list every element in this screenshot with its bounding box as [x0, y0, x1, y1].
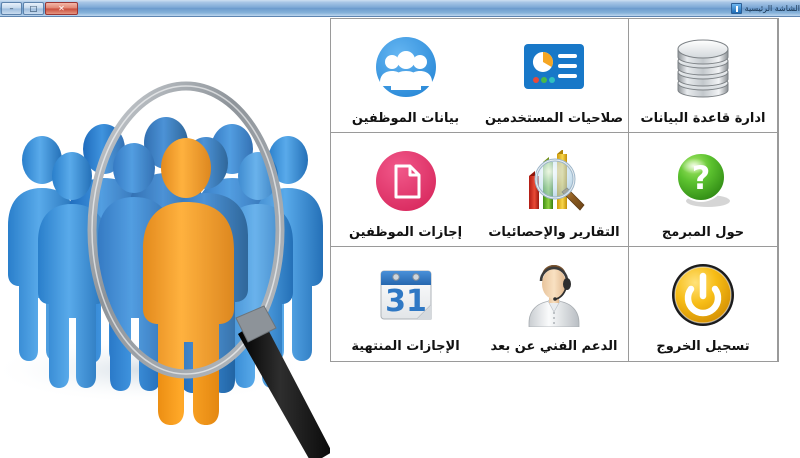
menu-label-employee-data: بيانات الموظفين — [352, 111, 459, 126]
window-controls: – □ ✕ — [0, 1, 80, 16]
menu-item-reports-statistics[interactable]: التقارير والإحصائيات — [480, 133, 629, 247]
menu-label-logout: تسجيل الخروج — [656, 339, 749, 354]
power-button-icon — [666, 260, 740, 330]
main-window: الشاشة الرئيسية – □ ✕ — [0, 0, 800, 458]
headset-support-icon — [517, 260, 591, 330]
title-bar: الشاشة الرئيسية – □ ✕ — [0, 0, 800, 17]
calendar-31-icon: 31 — [369, 260, 443, 330]
bottom-blank-area — [330, 362, 800, 458]
menu-label-employee-leaves: إجازات الموظفين — [349, 225, 462, 240]
document-page-icon — [369, 146, 443, 216]
menu-item-about-programmer[interactable]: ? حول المبرمج — [629, 133, 778, 247]
menu-item-user-permissions[interactable]: صلاحيات المستخدمين — [480, 19, 629, 133]
menu-label-remote-support: الدعم الفني عن بعد — [491, 339, 618, 354]
svg-text:?: ? — [692, 159, 711, 197]
menu-item-expired-leaves[interactable]: 31 الإجازات المنتهية — [331, 247, 480, 361]
main-menu-grid: ادارة قاعدة البيانات — [330, 18, 779, 362]
close-button[interactable]: ✕ — [45, 2, 78, 15]
users-group-icon — [369, 32, 443, 102]
minimize-icon: – — [2, 3, 21, 14]
menu-label-reports-statistics: التقارير والإحصائيات — [488, 225, 619, 240]
menu-label-expired-leaves: الإجازات المنتهية — [351, 339, 459, 354]
menu-item-employee-leaves[interactable]: إجازات الموظفين — [331, 133, 480, 247]
minimize-button[interactable]: – — [1, 2, 22, 15]
maximize-button[interactable]: □ — [23, 2, 44, 15]
menu-item-employee-data[interactable]: بيانات الموظفين — [331, 19, 480, 133]
close-icon: ✕ — [46, 3, 77, 14]
crowd-illustration-svg — [0, 18, 330, 458]
maximize-icon: □ — [24, 3, 43, 14]
app-icon — [731, 3, 742, 14]
title-bar-left: الشاشة الرئيسية — [728, 3, 800, 14]
calendar-day-number: 31 — [385, 284, 427, 319]
menu-item-logout[interactable]: تسجيل الخروج — [629, 247, 778, 361]
menu-label-database-management: ادارة قاعدة البيانات — [641, 111, 766, 126]
menu-label-about-programmer: حول المبرمج — [662, 225, 744, 240]
chart-magnifier-icon — [517, 146, 591, 216]
menu-label-user-permissions: صلاحيات المستخدمين — [485, 111, 623, 126]
database-icon — [666, 32, 740, 102]
crowd-magnifier-illustration — [0, 18, 330, 458]
window-title: الشاشة الرئيسية — [745, 3, 800, 14]
menu-item-database-management[interactable]: ادارة قاعدة البيانات — [629, 19, 778, 133]
dashboard-card-icon — [517, 32, 591, 102]
menu-item-remote-support[interactable]: الدعم الفني عن بعد — [480, 247, 629, 361]
question-mark-icon: ? — [666, 146, 740, 216]
